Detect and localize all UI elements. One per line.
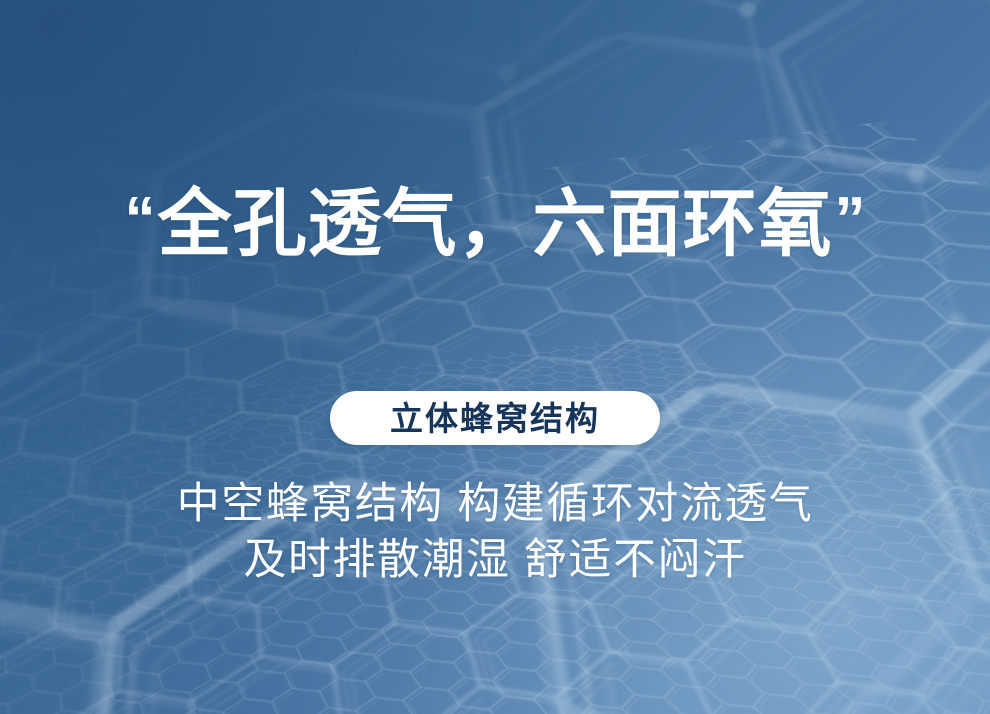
description-text: 中空蜂窝结构 构建循环对流透气 及时排散潮湿 舒适不闷汗 (177, 477, 813, 589)
headline-text: 全孔透气，六面环氧 (158, 183, 833, 266)
description-line-2: 及时排散潮湿 舒适不闷汗 (177, 533, 813, 589)
feature-badge: 立体蜂窝结构 (330, 391, 660, 445)
headline: “ 全孔透气，六面环氧 ” (125, 183, 866, 266)
description-line-1: 中空蜂窝结构 构建循环对流透气 (177, 477, 813, 533)
open-quote-mark: “ (125, 189, 156, 251)
close-quote-mark: ” (835, 189, 866, 251)
promo-banner: “ 全孔透气，六面环氧 ” 立体蜂窝结构 中空蜂窝结构 构建循环对流透气 及时排… (0, 0, 990, 714)
banner-content: “ 全孔透气，六面环氧 ” 立体蜂窝结构 中空蜂窝结构 构建循环对流透气 及时排… (0, 0, 990, 714)
feature-badge-label: 立体蜂窝结构 (390, 402, 600, 435)
